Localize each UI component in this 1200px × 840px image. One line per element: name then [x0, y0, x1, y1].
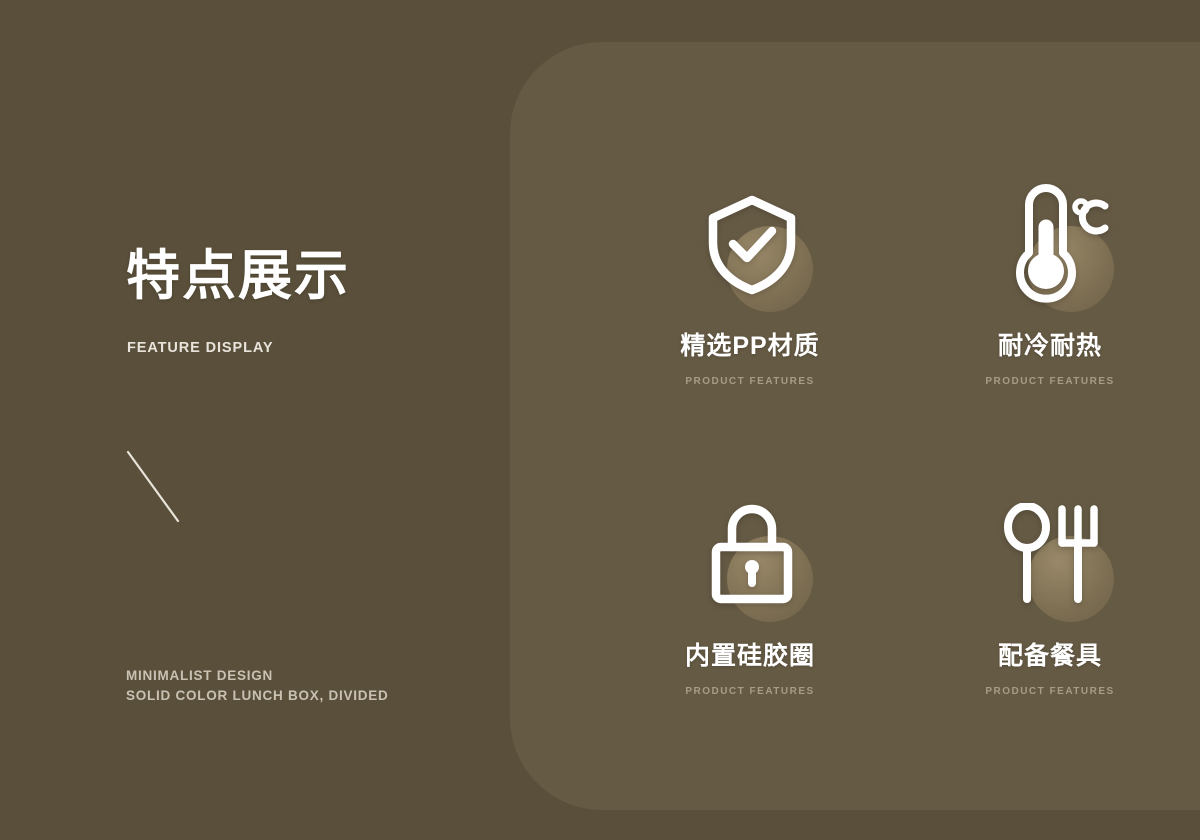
feature-title: 配备餐具	[998, 636, 1102, 672]
feature-subtitle: PRODUCT FEATURES	[685, 686, 814, 697]
page-subtitle: FEATURE DISPLAY	[127, 340, 273, 356]
feature-title: 内置硅胶圈	[685, 636, 815, 672]
feature-subtitle: PRODUCT FEATURES	[985, 686, 1114, 697]
intro-footer-line-1: MINIMALIST DESIGN	[126, 666, 389, 686]
feature-grid: 精选PP材质 PRODUCT FEATURES 耐冷耐热	[600, 170, 1200, 790]
feature-subtitle: PRODUCT FEATURES	[985, 376, 1114, 387]
feature-item[interactable]: 配备餐具 PRODUCT FEATURES	[900, 480, 1200, 790]
page-title: 特点展示	[126, 248, 350, 305]
feature-subtitle: PRODUCT FEATURES	[685, 376, 814, 387]
lock-icon	[706, 503, 798, 607]
thermometer-celsius-icon	[997, 183, 1109, 307]
feature-icon-container	[978, 480, 1128, 630]
intro-column: 特点展示 FEATURE DISPLAY MINIMALIST DESIGN S…	[126, 0, 486, 840]
feature-icon-container	[677, 480, 827, 630]
feature-item[interactable]: 精选PP材质 PRODUCT FEATURES	[600, 170, 900, 480]
feature-icon-container	[978, 170, 1128, 320]
feature-display-page: 特点展示 FEATURE DISPLAY MINIMALIST DESIGN S…	[0, 0, 1200, 840]
feature-title: 精选PP材质	[680, 326, 819, 362]
feature-item[interactable]: 耐冷耐热 PRODUCT FEATURES	[900, 170, 1200, 480]
feature-title: 耐冷耐热	[998, 326, 1102, 362]
intro-footer: MINIMALIST DESIGN SOLID COLOR LUNCH BOX,…	[126, 666, 389, 706]
spoon-fork-icon	[1000, 503, 1106, 607]
intro-footer-line-2: SOLID COLOR LUNCH BOX, DIVIDED	[126, 686, 389, 706]
feature-icon-container	[677, 170, 827, 320]
shield-check-icon	[704, 193, 800, 297]
diagonal-line-icon	[126, 440, 236, 535]
feature-item[interactable]: 内置硅胶圈 PRODUCT FEATURES	[600, 480, 900, 790]
